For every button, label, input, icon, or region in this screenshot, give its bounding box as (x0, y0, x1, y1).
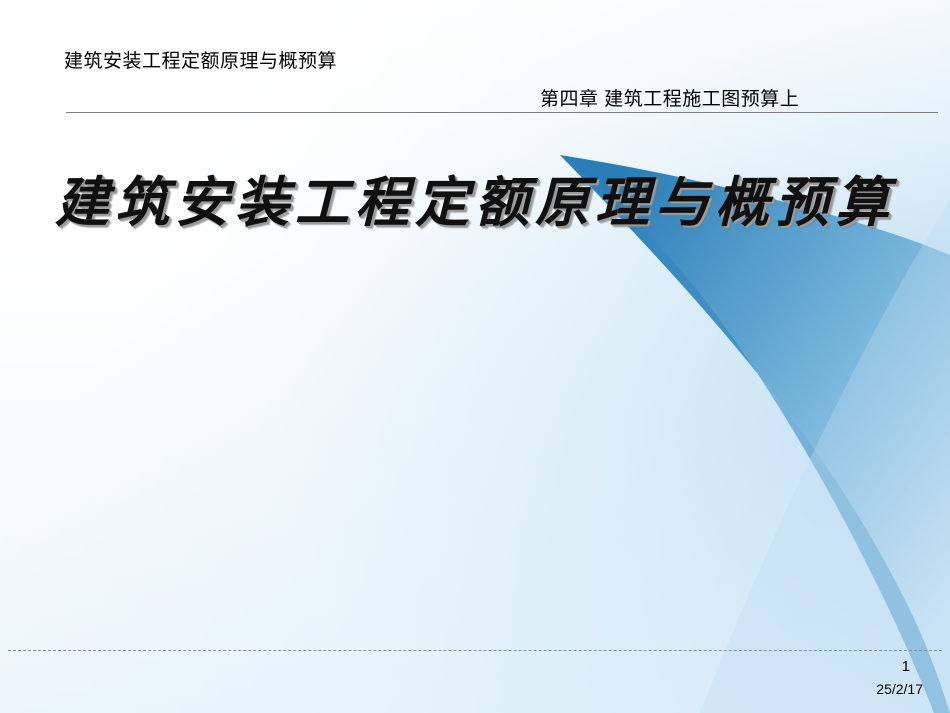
footer-divider (8, 650, 942, 651)
page-number: 1 (902, 658, 910, 675)
page-title: 建筑安装工程定额原理与概预算 (0, 158, 950, 237)
presentation-slide: 建筑安装工程定额原理与概预算 第四章 建筑工程施工图预算上 建筑安装工程定额原理… (0, 0, 950, 713)
course-title: 建筑安装工程定额原理与概预算 (64, 46, 337, 73)
decorative-swoosh-graphic (0, 0, 950, 713)
chapter-title: 第四章 建筑工程施工图预算上 (540, 84, 799, 111)
background-gradient-overlay (0, 0, 950, 713)
background-gradient-wash (0, 0, 950, 713)
header-divider (66, 112, 938, 113)
slide-date: 25/2/17 (876, 681, 923, 697)
